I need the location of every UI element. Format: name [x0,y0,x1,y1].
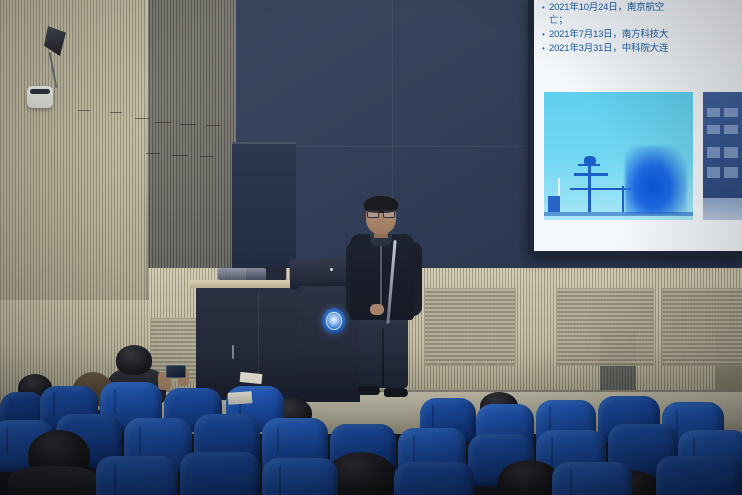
pylon-top [584,156,596,166]
seat-crease [570,470,572,495]
emblem-ring [326,312,342,330]
seat[interactable] [262,458,338,495]
seat-crease [114,463,116,490]
smartphone-icon [166,365,186,378]
seat[interactable] [394,462,474,495]
wall-mark [155,122,171,123]
ground-line [544,212,693,216]
slide-bullet-text: 2021年10月24日，南京航空 [549,2,664,13]
audience-shoulders [8,466,100,495]
slide-bullet-list: • 2021年10月24日，南京航空 亡； • 2021年7月13日，南方科技大… [542,2,742,56]
seat-crease [551,438,553,466]
presenter [344,196,422,402]
building-facade-photo [703,92,742,220]
seat-crease [53,392,55,416]
paper-sheet [228,391,253,405]
ventilation-grille [424,288,516,366]
wall-mark [172,155,188,156]
window-pane [707,125,720,134]
glasses-icon [367,210,395,216]
seat-crease [277,426,279,454]
ventilation-grille [556,288,654,366]
wall-mark [180,124,196,125]
wall-mark [200,156,214,157]
glasses-lens-left [367,211,379,218]
explosion-smoke-photo [544,92,693,220]
audience-head [498,460,560,495]
audience-head [116,345,152,375]
wall-slat-panel-left [0,0,148,330]
ventilation-grille [662,288,742,366]
wall-mark [135,118,149,119]
university-emblem [322,308,346,334]
slide-bullet-item: • 2021年10月24日，南京航空 [542,2,742,14]
presenter-shoe-right [384,388,408,397]
glasses-lens-right [383,211,395,218]
window-pane [724,147,738,158]
presenter-leg-gap [382,328,384,386]
slide-bullet-text: 2021年3月31日，中科院大连 [549,43,668,54]
pylon-arm [570,188,612,190]
seat-crease [413,435,415,462]
seat[interactable] [180,452,260,495]
wall-speaker-icon [27,86,53,108]
window-pane [724,108,738,117]
seat[interactable] [96,456,178,495]
slide-bullet-item: • 2021年3月31日，中科院大连 [542,43,742,55]
lecture-hall-photo: • 2021年10月24日，南京航空 亡； • 2021年7月13日，南方科技大… [0,0,742,495]
monitor-indicator-icon [330,268,333,271]
seat[interactable] [656,456,742,495]
window-pane [707,108,720,117]
presenter-shoe-left [358,386,380,395]
bullet-marker-icon: • [542,29,549,41]
window-pane [707,167,720,178]
wall-recess-dark [232,142,296,274]
wall-speaker-vent [30,89,50,94]
slide-bullet-item: • 2021年7月13日，南方科技大 [542,29,742,41]
cabinet-handle[interactable] [232,345,234,359]
seat-crease [114,389,116,414]
wall-mark [146,153,160,154]
bullet-marker-icon: • [542,43,549,55]
wall-seam [146,0,148,300]
wall-mark [110,112,122,113]
window-pane [707,147,720,158]
building-block [548,196,560,212]
seat-crease [676,409,678,434]
wall-mark [78,110,90,111]
smoke-plume [625,146,687,214]
seat-crease [549,406,551,430]
projection-screen-surface: • 2021年10月24日，南京航空 亡； • 2021年7月13日，南方科技大… [534,0,742,251]
pylon-arm [574,173,608,176]
projection-screen[interactable]: • 2021年10月24日，南京航空 亡； • 2021年7月13日，南方科技大… [528,0,742,256]
wall-mark [206,125,220,126]
bullet-marker-icon: • [542,2,549,14]
window-pane [724,125,738,134]
seat-crease [6,427,8,454]
cabinet-item-light [218,268,266,280]
building-base [703,198,742,220]
seat-crease [139,426,141,454]
seat-crease [279,466,281,494]
paper-sheet [240,372,263,384]
window-pane [724,167,738,178]
slide-bullet-continuation: 亡； [549,15,742,26]
slide-photo-row [544,92,742,240]
seat[interactable] [552,462,632,495]
presenter-hand [370,304,384,315]
jacket-zipper [380,242,382,312]
seat-crease [432,404,434,427]
slide-bullet-text: 2021年7月13日，南方科技大 [549,29,668,40]
